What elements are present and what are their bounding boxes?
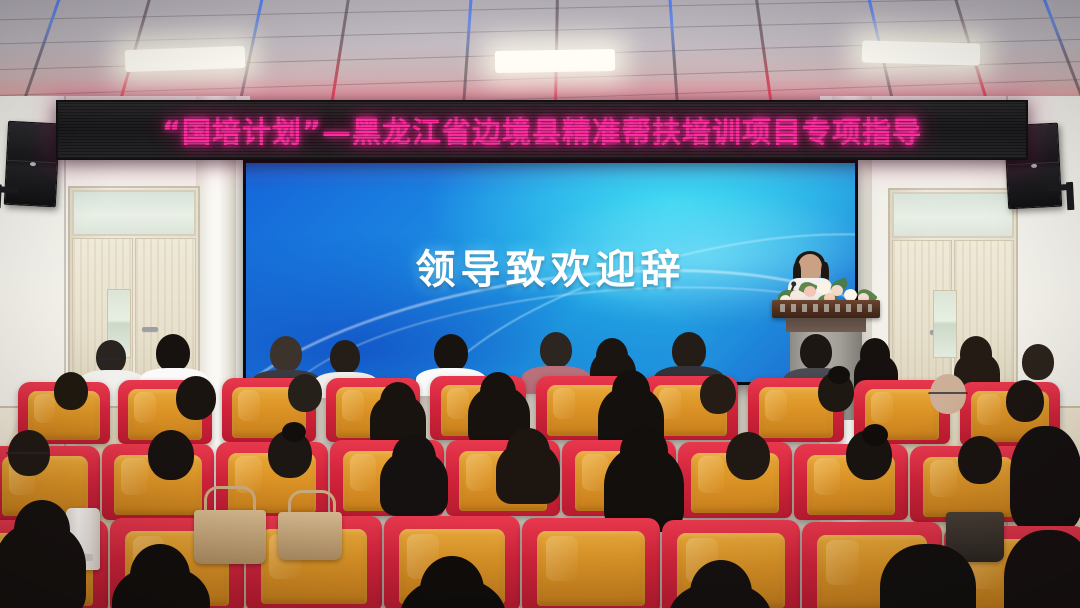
door-left-transom [72,190,196,236]
audience-head [148,430,194,480]
audience-head [540,332,572,368]
screen-title: 领导致欢迎辞 [246,237,855,295]
audience-area [0,330,1080,608]
ceiling [0,0,1080,106]
audience-head [156,334,190,372]
audience-hair [0,522,86,608]
ceiling-light-1 [125,46,246,72]
seat[interactable] [522,518,660,608]
audience-head [800,334,832,370]
led-banner: “国培计划”—黑龙江省边境县精准帮扶培训项目专项指导 [56,100,1028,160]
audience-hair [496,442,560,504]
audience-head [958,436,1002,484]
podium-top [772,300,880,318]
audience-head [54,372,88,410]
door-right-transom [892,192,1014,238]
audience-hair [380,450,448,516]
ceiling-light-2 [495,49,615,73]
ceiling-light-3 [862,40,981,65]
wall-speaker-left [4,121,58,206]
audience-hair-bun [828,366,850,384]
audience-head [96,340,126,374]
glasses-icon [928,392,968,397]
audience-head [434,334,468,372]
audience-head [330,340,360,374]
audience-head [1022,344,1054,380]
audience-head [672,332,706,370]
glasses-icon [6,452,50,457]
tan-handbag [278,512,342,560]
podium-plaque [780,304,872,312]
tan-handbag [194,510,266,564]
audience-head [288,374,322,412]
audience-head [700,374,736,414]
audience-head [176,376,216,420]
conference-hall-photo: 领导致欢迎辞 “国培计划”—黑龙江省边境县精准帮扶培训项目专项指导 [0,0,1080,608]
audience-hair [1010,426,1080,530]
audience-hair-bun [862,424,888,446]
led-banner-cable [1022,100,1028,120]
glasses-icon [98,358,122,363]
audience-head [1006,380,1044,422]
audience-hair-bun [282,422,306,442]
audience-head [726,432,770,480]
led-banner-text: “国培计划”—黑龙江省边境县精准帮扶培训项目专项指导 [162,109,922,151]
audience-head [270,336,302,372]
